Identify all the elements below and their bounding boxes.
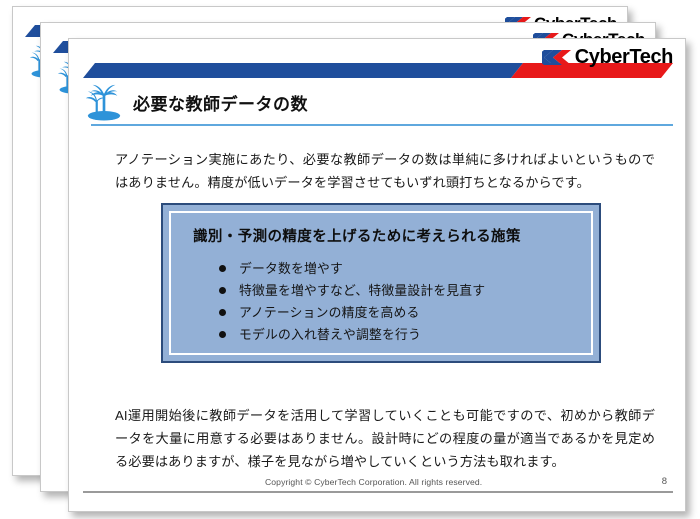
list-item-label: アノテーションの精度を高める [239, 305, 420, 320]
highlight-box: 識別・予測の精度を上げるために考えられる施策 データ数を増やす 特徴量を増やすな… [161, 203, 601, 363]
list-item-label: データ数を増やす [239, 261, 343, 276]
cybertech-logo: CyberTech [542, 47, 673, 67]
closing-paragraph: AI運用開始後に教師データを活用して学習していくことも可能ですので、初めから教師… [115, 404, 655, 473]
list-item-label: 特徴量を増やすなど、特徴量設計を見直す [239, 283, 485, 298]
list-item-label: モデルの入れ替えや調整を行う [239, 327, 421, 342]
bullet-dot-icon [219, 265, 226, 272]
slide-card-front[interactable]: CyberTech [68, 38, 686, 512]
brand-name: CyberTech [575, 47, 673, 67]
footer-divider [83, 491, 673, 493]
bullet-dot-icon [219, 331, 226, 338]
measures-list: データ数を増やす 特徴量を増やすなど、特徴量設計を見直す アノテーションの精度を… [193, 258, 575, 346]
slide-title-row: 必要な教師データの数 [83, 77, 675, 127]
page-number: 8 [662, 476, 667, 487]
intro-paragraph: アノテーション実施にあたり、必要な教師データの数は単純に多ければよいというもので… [115, 148, 655, 194]
page-title: 必要な教師データの数 [133, 90, 308, 115]
list-item: 特徴量を増やすなど、特徴量設計を見直す [219, 280, 575, 302]
bullet-dot-icon [219, 309, 226, 316]
chevron-left-stack-icon [542, 50, 572, 65]
bullet-dot-icon [219, 287, 226, 294]
highlight-box-heading: 識別・予測の精度を上げるために考えられる施策 [193, 225, 575, 246]
palm-tree-island-icon [85, 82, 123, 122]
copyright-text: Copyright © CyberTech Corporation. All r… [265, 477, 482, 487]
list-item: モデルの入れ替えや調整を行う [219, 324, 575, 346]
list-item: データ数を増やす [219, 258, 575, 280]
list-item: アノテーションの精度を高める [219, 302, 575, 324]
title-divider [91, 124, 673, 126]
